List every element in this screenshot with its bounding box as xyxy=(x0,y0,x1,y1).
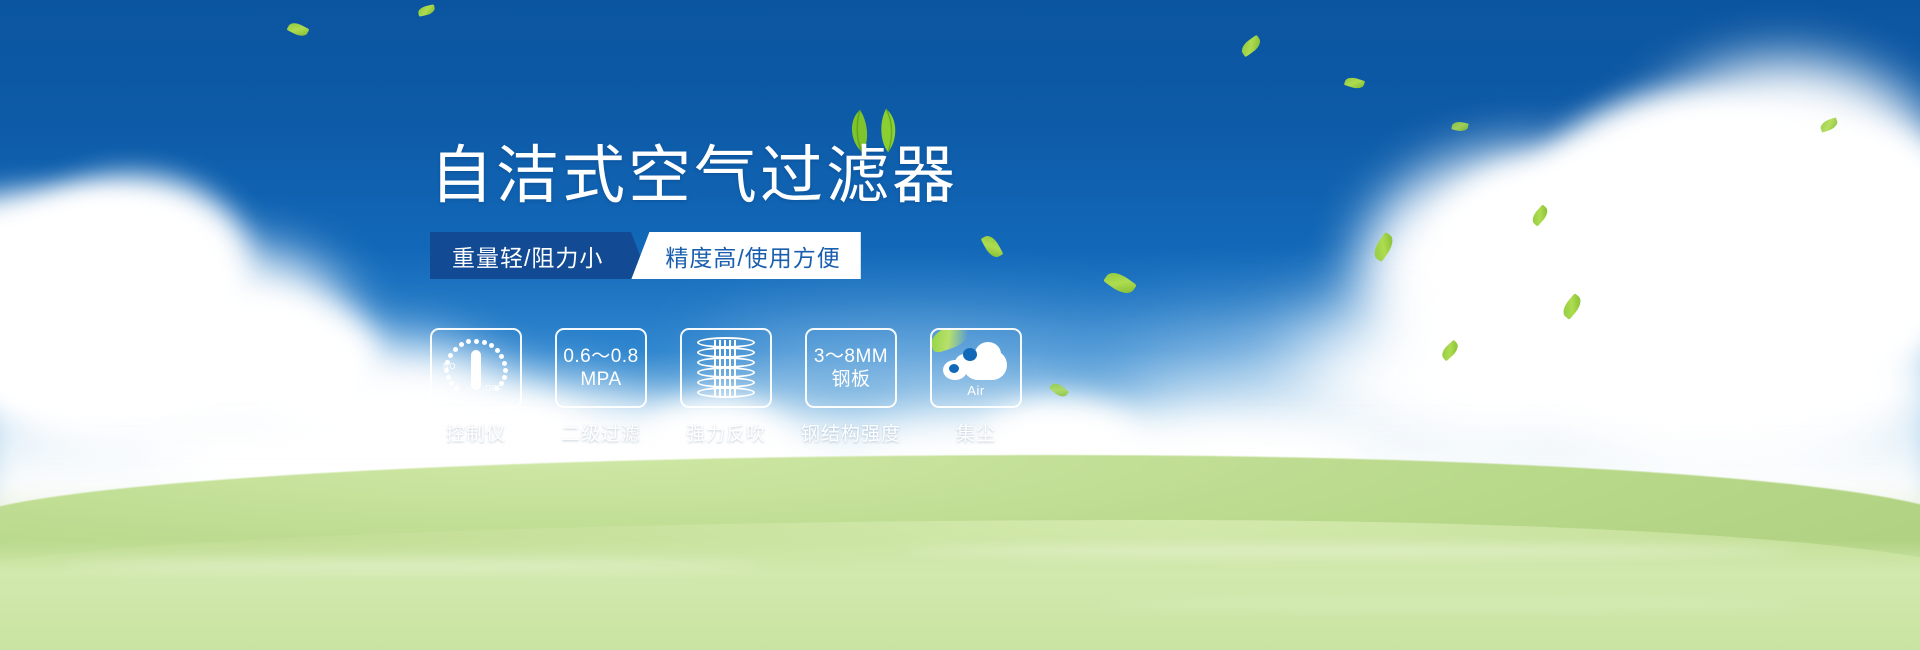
steel-thickness-text: 3～8MM xyxy=(814,345,888,368)
feature-icon-box xyxy=(680,328,772,408)
feature-icon-box: NO OFF xyxy=(430,328,522,408)
feature-item-reverse-blow[interactable]: 强力反吹 xyxy=(680,328,772,446)
dial-label-off: OFF xyxy=(485,384,503,393)
feature-item-secondary-filtration[interactable]: 0.6～0.8 MPA 二级过滤 xyxy=(555,328,647,446)
tagline-tab-secondary[interactable]: 精度高/使用方便 xyxy=(631,232,860,279)
feature-item-dust-collection[interactable]: Air 集尘 xyxy=(930,328,1022,446)
dial-label-no: NO xyxy=(443,362,456,371)
banner-content: 自洁式空气过滤器 重量轻/阻力小 精度高/使用方便 xyxy=(0,0,1920,650)
page-title: 自洁式空气过滤器 xyxy=(430,140,958,212)
pressure-value-icon: 0.6～0.8 MPA xyxy=(563,345,638,391)
feature-item-control-instrument[interactable]: NO OFF 控制仪 xyxy=(430,328,522,446)
dial-pointer xyxy=(471,350,481,390)
feature-icon-box: 3～8MM 钢板 xyxy=(805,328,897,408)
feature-icon-box: 0.6～0.8 MPA xyxy=(555,328,647,408)
pressure-range-text: 0.6～0.8 xyxy=(563,345,638,368)
air-cloud-icon: Air xyxy=(941,340,1011,396)
tagline-tab-primary[interactable]: 重量轻/阻力小 xyxy=(430,232,631,279)
steel-material-text: 钢板 xyxy=(814,368,888,391)
feature-label: 二级过滤 xyxy=(561,419,641,446)
filter-cartridge-icon xyxy=(697,336,755,400)
feature-tagline-tabs: 重量轻/阻力小 精度高/使用方便 xyxy=(430,232,861,279)
feature-icon-row: NO OFF 控制仪 0.6～0.8 MPA 二级过滤 xyxy=(430,328,1022,446)
feature-label: 强力反吹 xyxy=(686,419,766,446)
air-text: Air xyxy=(941,383,1011,398)
feature-label: 集尘 xyxy=(956,419,996,446)
steel-plate-value-icon: 3～8MM 钢板 xyxy=(814,345,888,391)
feature-item-steel-strength[interactable]: 3～8MM 钢板 钢结构强度 xyxy=(805,328,897,446)
feature-label: 钢结构强度 xyxy=(801,419,901,446)
control-dial-icon: NO OFF xyxy=(443,337,509,399)
feature-icon-box: Air xyxy=(930,328,1022,408)
pressure-unit-text: MPA xyxy=(563,368,638,391)
product-banner: 自洁式空气过滤器 重量轻/阻力小 精度高/使用方便 xyxy=(0,0,1920,650)
feature-label: 控制仪 xyxy=(446,419,506,446)
